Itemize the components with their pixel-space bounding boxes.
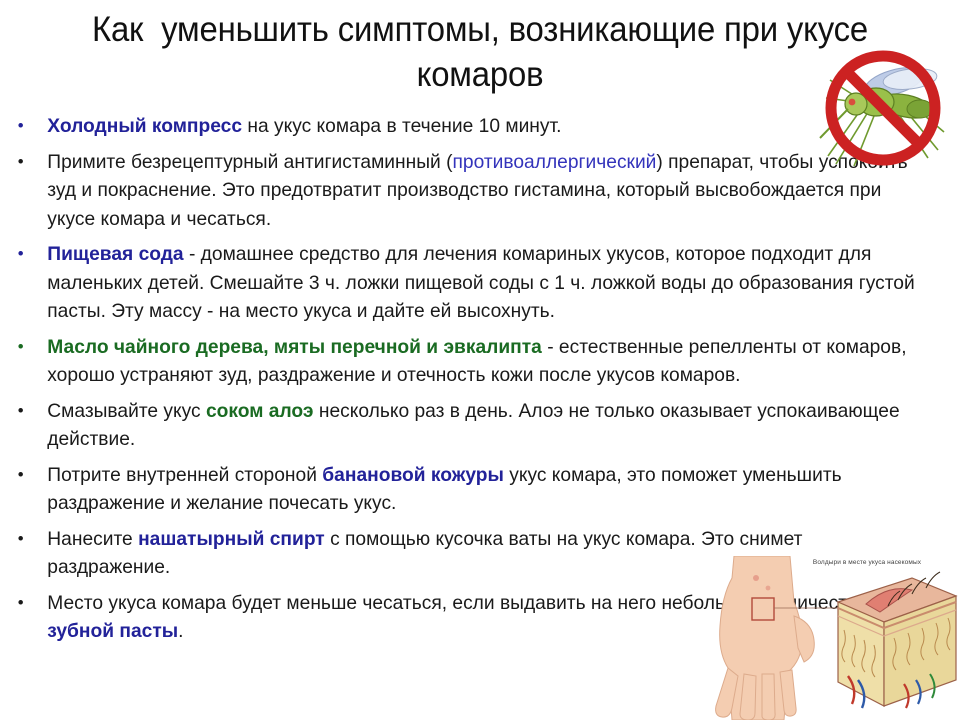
highlight-term: банановой кожуры (322, 464, 504, 486)
text-run: Смазывайте укус (47, 400, 206, 422)
highlight-term: нашатырный спирт (138, 528, 325, 550)
list-item-text: Масло чайного дерева, мяты перечной и эв… (47, 333, 926, 390)
highlight-term: противоаллергический (453, 151, 657, 173)
highlight-term: Пищевая сода (47, 243, 183, 265)
highlight-term: Масло чайного дерева, мяты перечной и эв… (47, 336, 542, 358)
text-run: Потрите внутренней стороной (47, 464, 322, 486)
list-item: •Масло чайного дерева, мяты перечной и э… (0, 333, 926, 390)
list-item-text: Холодный компресс на укус комара в течен… (47, 112, 926, 141)
highlight-term: Холодный компресс (47, 115, 242, 137)
list-item: •Примите безрецептурный антигистаминный … (0, 148, 926, 234)
text-run: Нанесите (47, 528, 138, 550)
hand-illustration (716, 556, 838, 720)
list-item-text: Смазывайте укус соком алоэ несколько раз… (47, 397, 926, 454)
insect-bite-skin-image: Волдыри в месте укуса насекомых (698, 556, 960, 720)
bullet-marker-icon: • (18, 240, 24, 269)
list-item: • Холодный компресс на укус комара в теч… (0, 112, 926, 141)
bullet-marker-icon: • (18, 148, 24, 177)
list-item: •Пищевая сода - домашнее средство для ле… (0, 240, 926, 326)
bullet-marker-icon: • (18, 397, 24, 426)
list-item: •Смазывайте укус соком алоэ несколько ра… (0, 397, 926, 454)
list-item-text: Примите безрецептурный антигистаминный (… (47, 148, 926, 234)
page-title: Как уменьшить симптомы, возникающие при … (46, 8, 915, 98)
text-run: . (178, 620, 183, 642)
list-item: •Потрите внутренней стороной банановой к… (0, 461, 926, 518)
list-item-text: Пищевая сода - домашнее средство для леч… (47, 240, 926, 326)
bullet-marker-icon: • (18, 525, 24, 554)
text-run: на укус комара в течение 10 минут. (242, 115, 561, 137)
bullet-marker-icon: • (18, 461, 24, 490)
list-item-text: Потрите внутренней стороной банановой ко… (47, 461, 926, 518)
bullet-marker-icon: • (18, 589, 24, 618)
bullet-marker-icon: • (18, 333, 24, 362)
skin-diagram-caption: Волдыри в месте укуса насекомых (792, 558, 942, 567)
bullet-marker-icon: • (18, 112, 24, 141)
highlight-term: соком алоэ (206, 400, 314, 422)
highlight-term: зубной пасты (47, 620, 178, 642)
skin-cross-section (838, 572, 956, 708)
no-mosquito-sign-image (810, 46, 956, 170)
slide-canvas: Как уменьшить симптомы, возникающие при … (0, 0, 960, 720)
text-run: Примите безрецептурный антигистаминный ( (47, 151, 452, 173)
